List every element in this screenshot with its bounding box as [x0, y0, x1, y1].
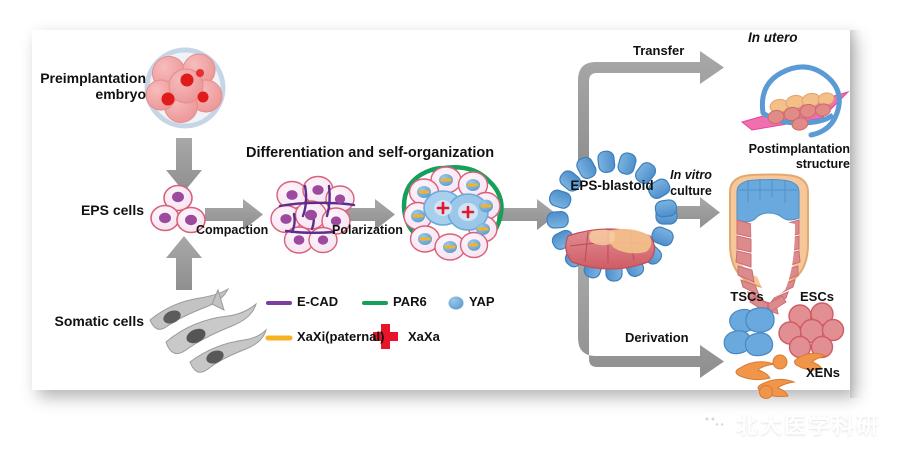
label-compaction: Compaction: [196, 223, 268, 237]
arrow-derivation: [578, 262, 724, 378]
label-preimplantation-line1: Preimplantation: [28, 70, 146, 86]
label-in-vitro-line1: In vitro: [660, 168, 722, 184]
eps-blastoid-illustration: [547, 151, 678, 282]
arrow-embryo-to-eps: [166, 138, 202, 192]
label-derivation: Derivation: [625, 331, 689, 346]
label-transfer: Transfer: [633, 44, 684, 59]
label-in-vitro-culture: In vitro culture: [660, 168, 722, 199]
label-xens: XENs: [806, 366, 840, 381]
label-tscs: TSCs: [712, 290, 782, 305]
compacted-aggregate-illustration: [271, 177, 354, 254]
figure-canvas: Preimplantation embryo EPS cells Somatic…: [0, 0, 914, 459]
legend-item-xaxi-label: XaXi(paternal): [297, 330, 384, 345]
preimplantation-embryo-illustration: [146, 50, 223, 126]
legend-item-par6-label: PAR6: [393, 295, 427, 310]
watermark: 北大医学科研: [700, 408, 880, 440]
in-utero-illustration: [742, 67, 848, 135]
label-postimp-line1: Postimplantation: [742, 142, 850, 157]
label-postimp-line2: structure: [742, 157, 850, 172]
legend-item-yap-label: YAP: [469, 295, 495, 310]
label-preimplantation-embryo: Preimplantation embryo: [28, 70, 146, 102]
label-somatic-cells: Somatic cells: [36, 313, 144, 329]
legend-item-e-cad-label: E-CAD: [297, 295, 338, 310]
label-in-utero: In utero: [748, 30, 798, 46]
polarized-aggregate-illustration: [404, 167, 502, 260]
label-polarization: Polarization: [332, 223, 403, 237]
label-eps-blastoid: EPS-blastoid: [557, 178, 667, 194]
arrow-somatic-to-eps: [166, 236, 202, 290]
watermark-text: 北大医学科研: [736, 408, 880, 440]
label-preimplantation-line2: embryo: [28, 86, 146, 102]
tscs-illustration: [724, 308, 774, 356]
arrow-transfer: [578, 51, 724, 170]
legend-item-xaxa-label: XaXa: [408, 330, 440, 345]
label-in-vitro-line2: culture: [660, 184, 722, 200]
wechat-icon: [700, 412, 728, 436]
figure-graphics: [0, 0, 914, 459]
somatic-cells-illustration: [150, 289, 266, 372]
escs-illustration: [779, 303, 844, 358]
label-escs: ESCs: [782, 290, 852, 305]
label-eps-cells: EPS cells: [40, 202, 144, 218]
label-postimplantation-structure: Postimplantation structure: [742, 142, 850, 172]
label-differentiation-title: Differentiation and self-organization: [246, 145, 494, 162]
